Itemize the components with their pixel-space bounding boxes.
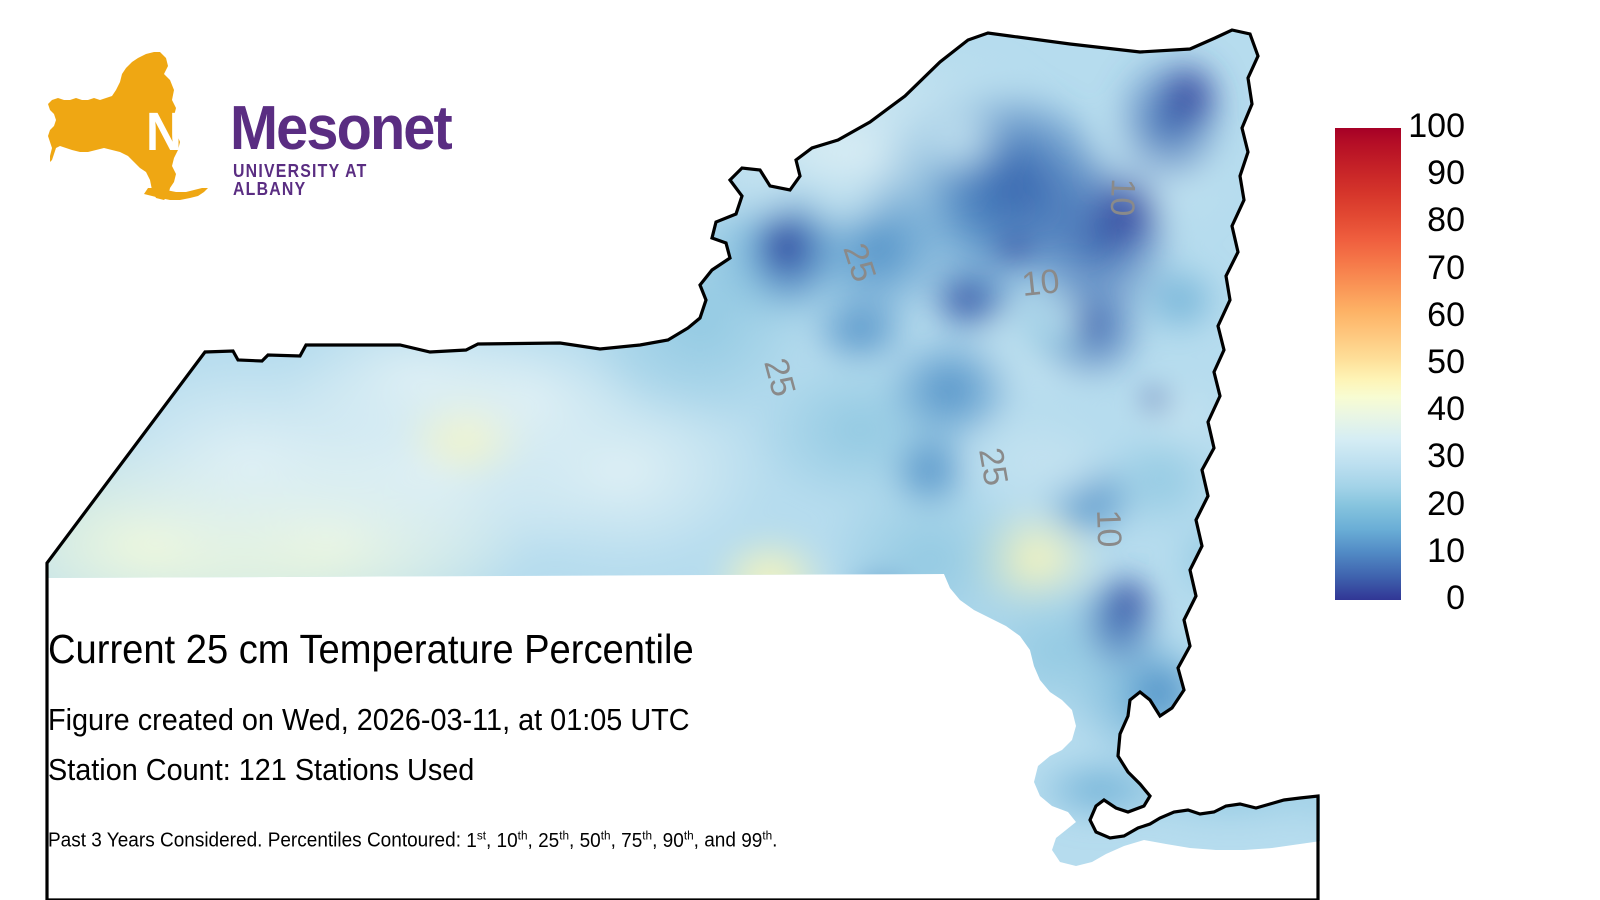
footnote: Past 3 Years Considered. Percentiles Con… [48, 828, 777, 853]
contour-label-10: 10 [1020, 262, 1062, 304]
colorbar-tick-50: 50 [1385, 345, 1465, 379]
logo-mesonet-text: Mesonet [230, 98, 451, 160]
colorbar-tick-90: 90 [1385, 156, 1465, 190]
footnote-percentile-25: 25th [538, 830, 569, 852]
colorbar-tick-60: 60 [1385, 298, 1465, 332]
figure-created-line: Figure created on Wed, 2026-03-11, at 01… [48, 702, 690, 738]
contour-label-10: 10 [1089, 509, 1128, 548]
colorbar-tick-40: 40 [1385, 392, 1465, 426]
colorbar-tick-labels: 1009080706050403020100 [1385, 0, 1465, 900]
station-count-line: Station Count: 121 Stations Used [48, 752, 474, 788]
colorbar-tick-80: 80 [1385, 203, 1465, 237]
colorbar-tick-20: 20 [1385, 487, 1465, 521]
colorbar-tick-100: 100 [1385, 109, 1465, 143]
page-title: Current 25 cm Temperature Percentile [48, 626, 694, 673]
footnote-percentile-99: 99th [741, 830, 772, 852]
contour-label-25: 25 [971, 445, 1015, 489]
contour-label-10: 10 [1103, 178, 1142, 217]
nys-mesonet-logo: NYS Mesonet UNIVERSITY AT ALBANY [48, 50, 398, 205]
footnote-percentile-75: 75th [621, 830, 652, 852]
footnote-percentile-50: 50th [580, 830, 611, 852]
colorbar-tick-30: 30 [1385, 439, 1465, 473]
colorbar-tick-70: 70 [1385, 251, 1465, 285]
colorbar-tick-10: 10 [1385, 534, 1465, 568]
colorbar-tick-0: 0 [1385, 581, 1465, 615]
footnote-percentile-10: 10th [497, 830, 528, 852]
footnote-percentile-1: 1st [466, 830, 486, 852]
footnote-percentile-90: 90th [663, 830, 694, 852]
logo-university-text: UNIVERSITY AT ALBANY [233, 162, 378, 198]
